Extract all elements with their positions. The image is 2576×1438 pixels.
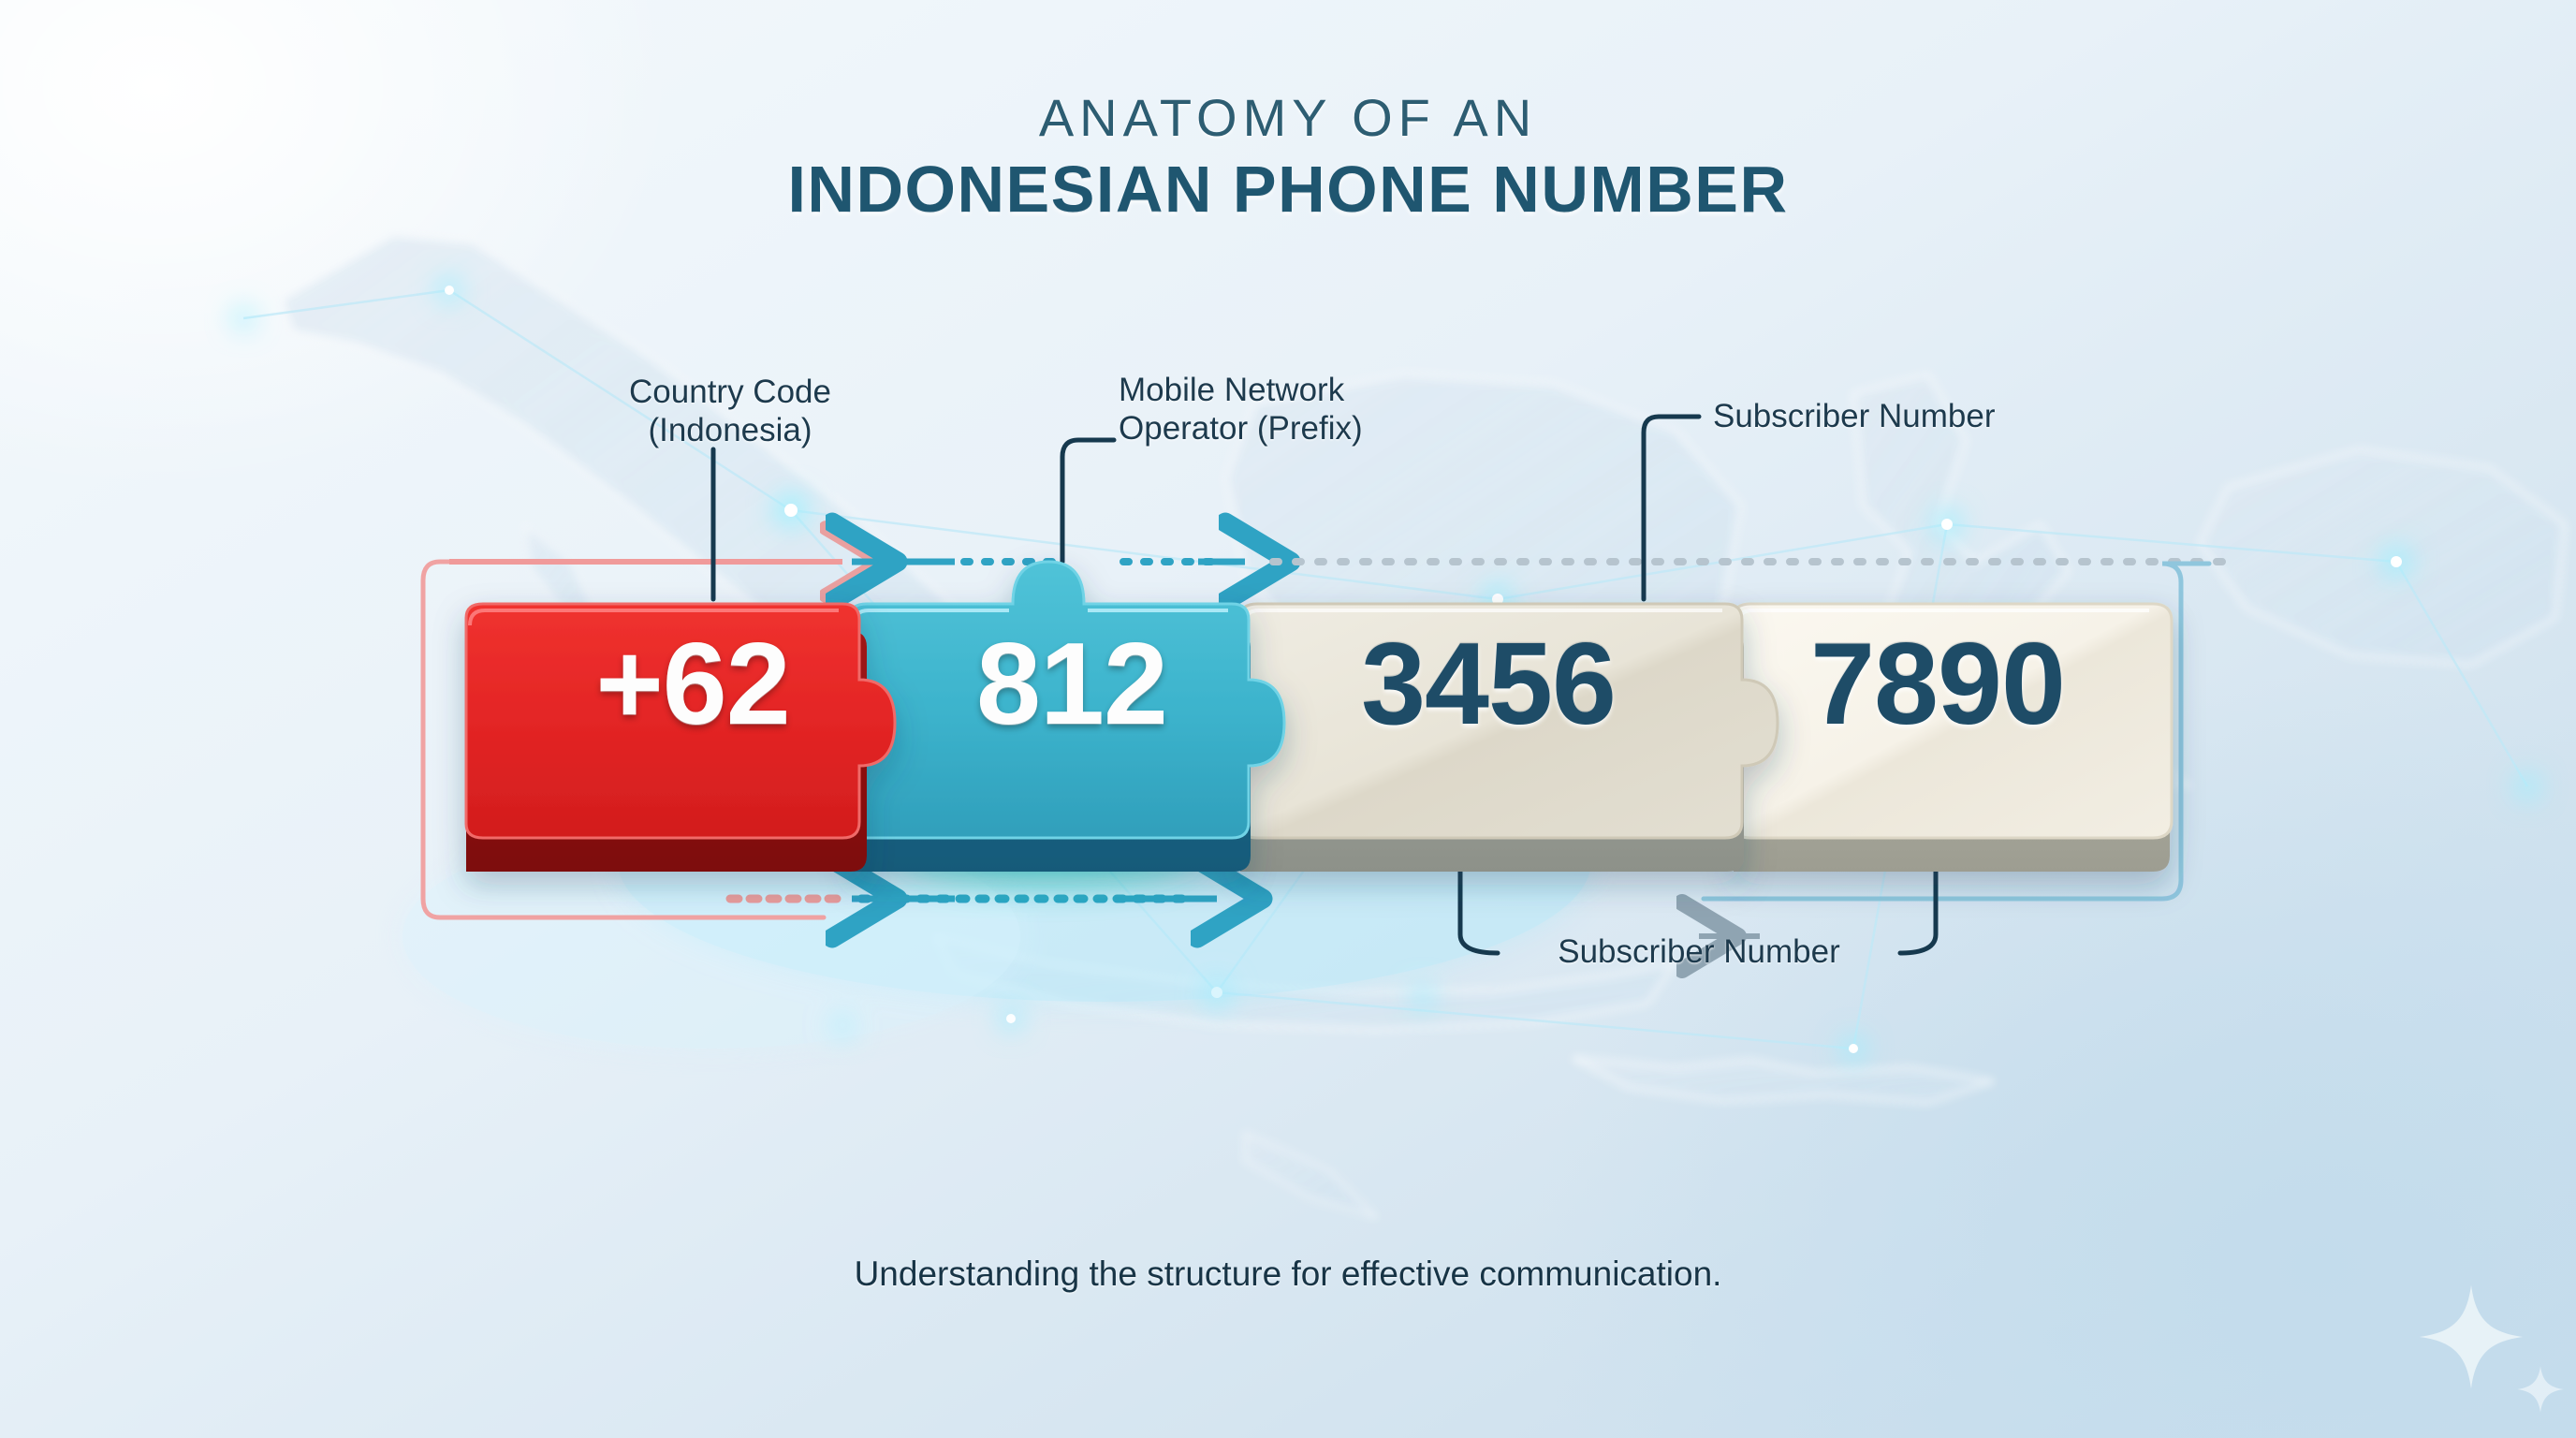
- puzzle-piece-812[interactable]: [850, 562, 1284, 872]
- infographic-canvas: ANATOMY OF AN INDONESIAN PHONE NUMBER Co…: [0, 0, 2576, 1438]
- puzzle-piece-3456[interactable]: [1240, 604, 1778, 872]
- footer-caption: Understanding the structure for effectiv…: [0, 1255, 2576, 1294]
- puzzle-piece-7890[interactable]: [1734, 604, 2172, 872]
- callout-label-operator: Mobile Network Operator (Prefix): [1119, 371, 1456, 448]
- callout-label-country-code: Country Code (Indonesia): [571, 373, 889, 450]
- callout-label-subscriber-top: Subscriber Number: [1713, 397, 2106, 435]
- phone-number-puzzle: [0, 0, 2576, 1438]
- callout-label-subscriber-bottom: Subscriber Number: [1502, 932, 1895, 971]
- puzzle-piece-62[interactable]: [466, 604, 895, 872]
